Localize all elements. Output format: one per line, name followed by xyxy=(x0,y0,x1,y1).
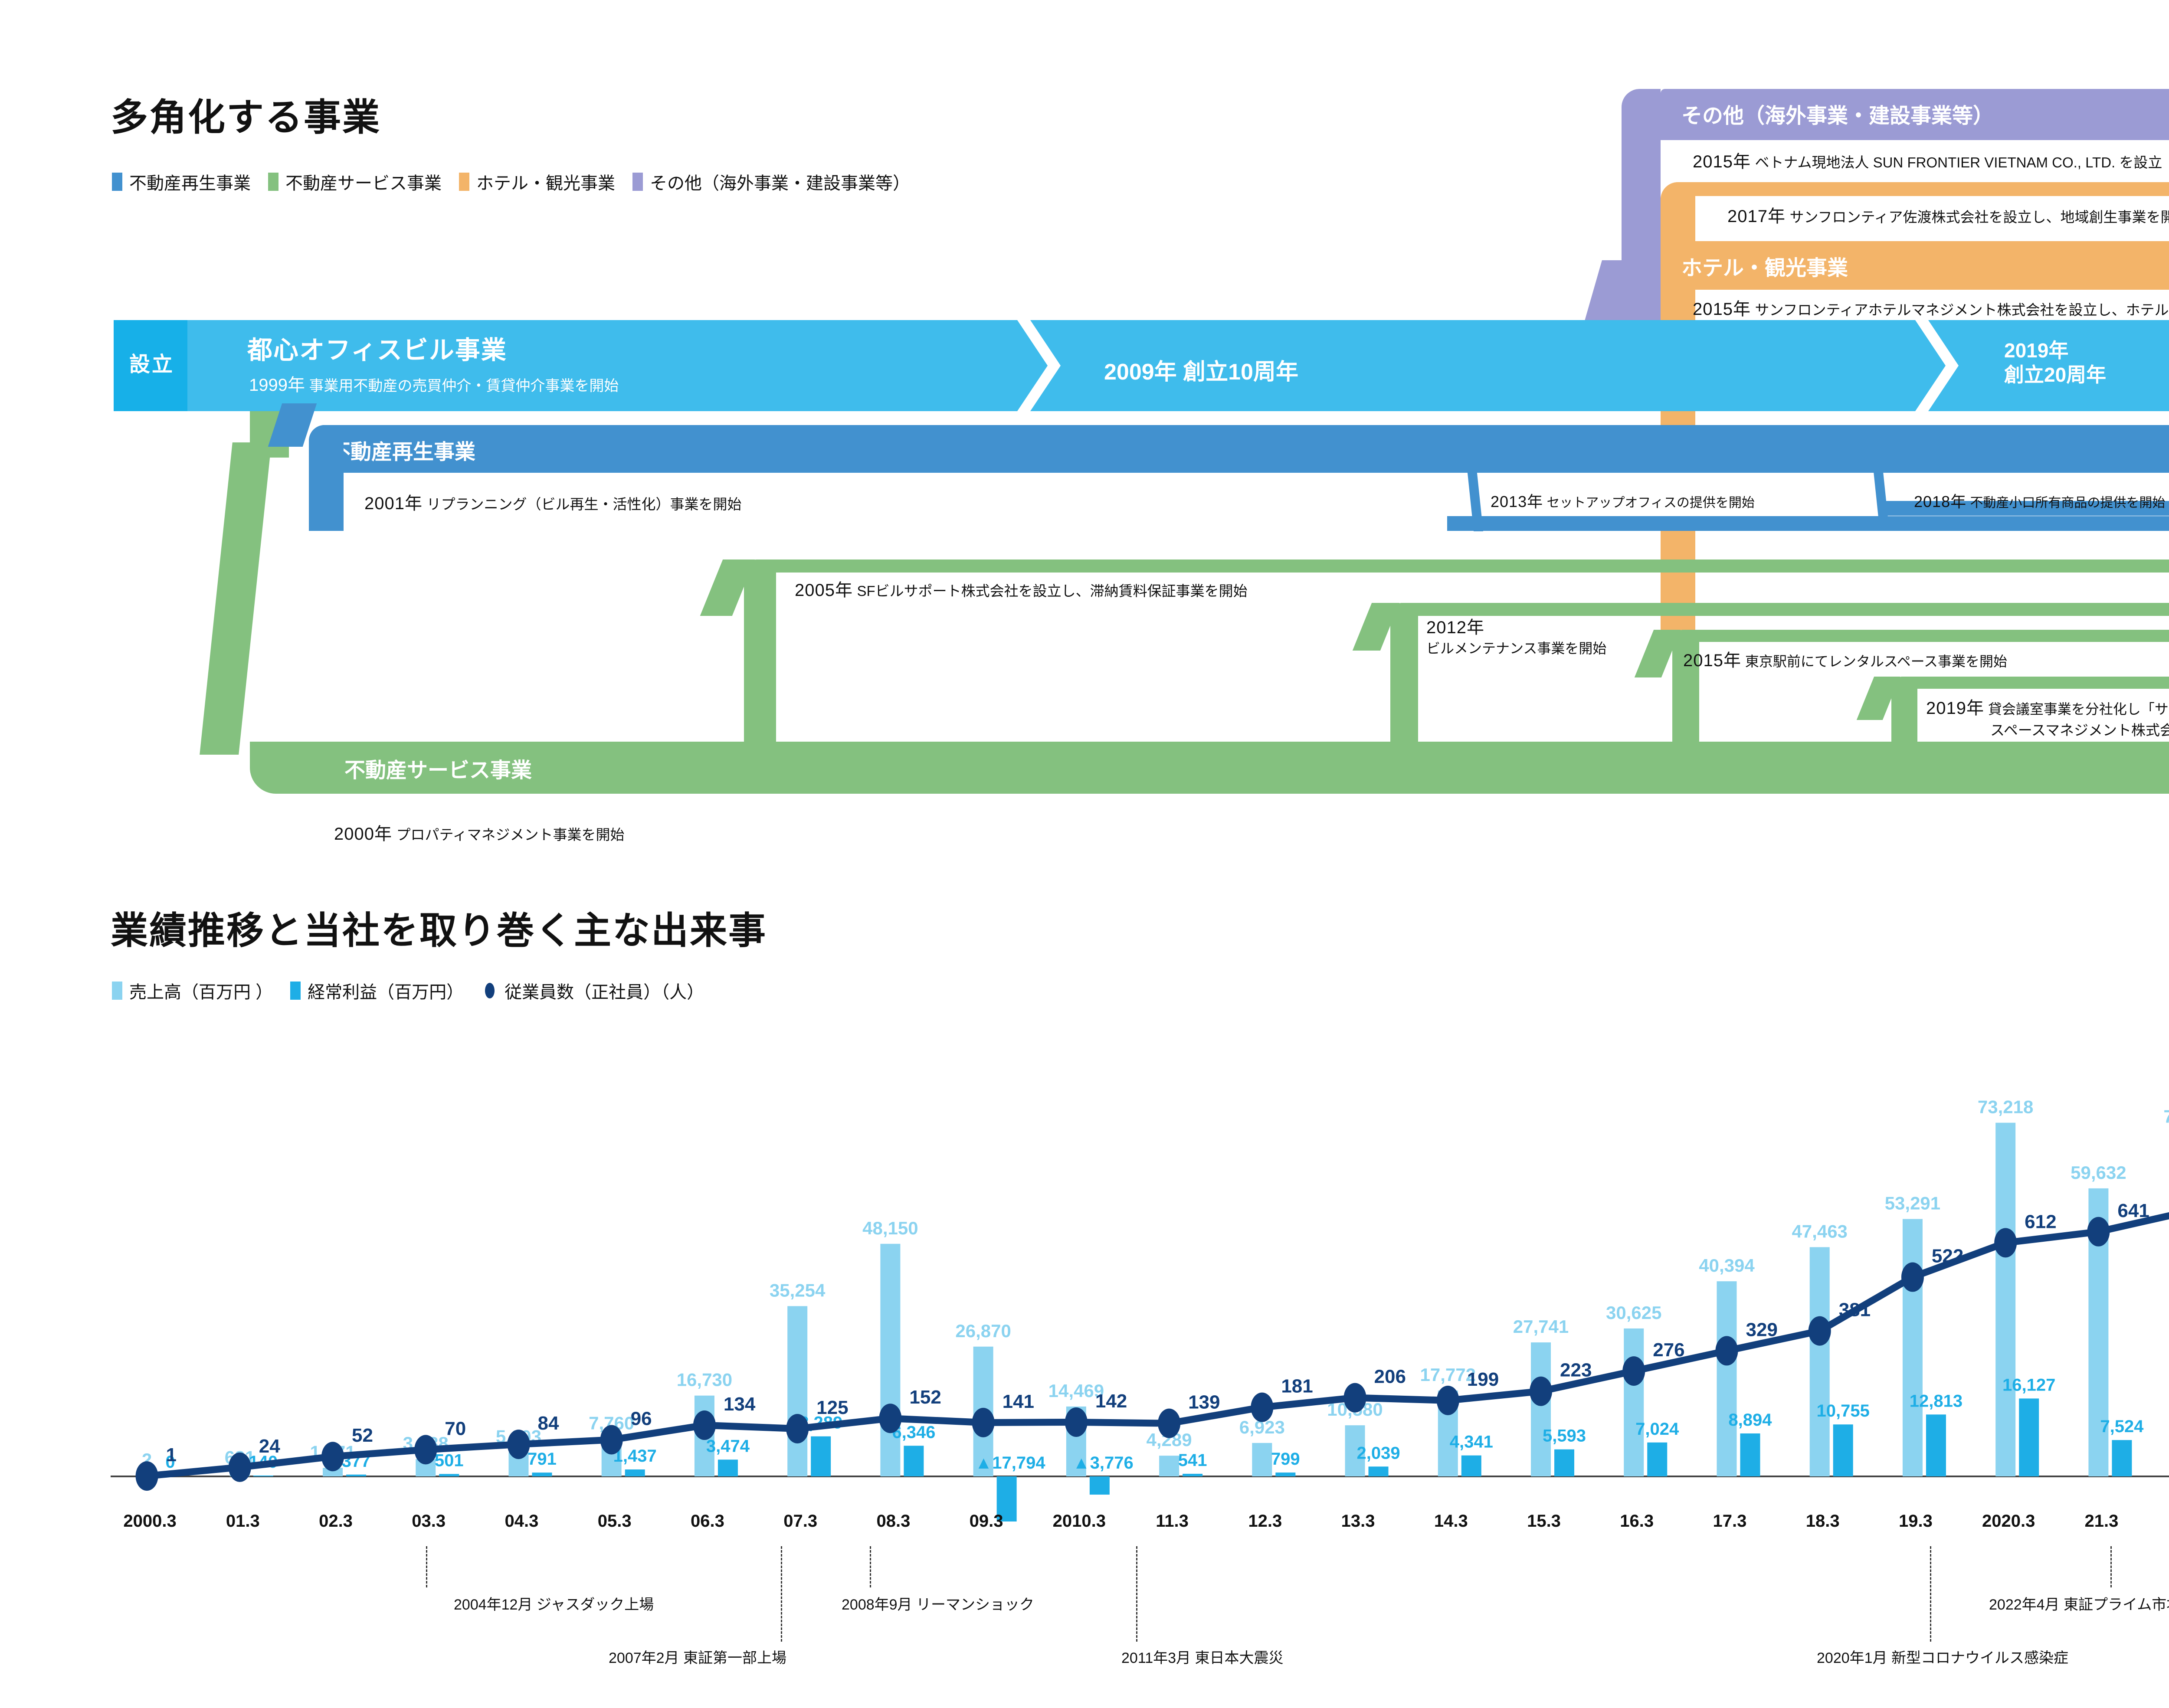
x-axis-tick: 16.3 xyxy=(1620,1512,1654,1531)
employee-point-label: 70 xyxy=(445,1418,466,1439)
service-band-stem-diagonal xyxy=(200,442,272,755)
annotation-leader-line xyxy=(2110,1546,2112,1587)
service-event-2019-text1: 貸会議室事業を分社化し「サンフロンティア xyxy=(1988,701,2169,717)
employee-point-label: 152 xyxy=(909,1387,941,1408)
service-branch-bar-2 xyxy=(1390,603,2169,616)
x-axis-tick: 2000.3 xyxy=(123,1512,176,1531)
employee-point-label: 522 xyxy=(1932,1246,1963,1267)
employee-line-point xyxy=(136,1461,158,1491)
profit-bar-label: 541 xyxy=(1178,1451,1207,1470)
profit-bar-label: 5,593 xyxy=(1543,1427,1586,1446)
service-event-2019-year: 2019年 xyxy=(1926,699,1984,718)
x-axis-tick: 03.3 xyxy=(412,1512,446,1531)
employee-point-label: 142 xyxy=(1095,1391,1127,1412)
profit-bar-label: 16,127 xyxy=(2002,1375,2055,1394)
employee-point-label: 381 xyxy=(1839,1299,1871,1321)
employee-line-point xyxy=(600,1425,623,1455)
regen-band-stem xyxy=(309,425,344,529)
other-event-2017-text: サンフロンティア佐渡株式会社を設立し、地域創生事業を開始 xyxy=(1789,209,2169,225)
profit-bar xyxy=(1275,1472,1295,1476)
employee-point-label: 125 xyxy=(816,1397,848,1418)
service-event-2000: 2000年 プロパティマネジメント事業を開始 xyxy=(334,820,624,845)
hotel-event-2015: 2015年 サンフロンティアホテルマネジメント株式会社を設立し、ホテル運営事業を… xyxy=(1693,295,2169,320)
profit-bar xyxy=(1740,1433,1760,1476)
annotation-label: 2004年12月 ジャスダック上場 xyxy=(454,1593,654,1614)
profit-bar-label: 3,474 xyxy=(706,1436,750,1456)
annotation-leader-line xyxy=(870,1546,871,1587)
regen-event-2018-year: 2018年 xyxy=(1914,493,1966,510)
other-band-heading: その他（海外事業・建設事業等） xyxy=(1681,98,1994,129)
profit-bar-label: 10,755 xyxy=(1817,1401,1870,1420)
revenue-bar xyxy=(1252,1443,1272,1476)
revenue-bar xyxy=(1717,1281,1737,1476)
chart-x-axis: 2000.301.302.303.304.305.306.307.308.309… xyxy=(111,1512,2169,1542)
profit-bar xyxy=(439,1474,459,1476)
x-axis-tick: 06.3 xyxy=(691,1512,724,1531)
employee-line-point xyxy=(972,1408,995,1437)
profit-bar xyxy=(904,1446,924,1476)
x-axis-tick: 2020.3 xyxy=(1982,1512,2035,1531)
hotel-event-2015-text: サンフロンティアホテルマネジメント株式会社を設立し、ホテル運営事業を開始 xyxy=(1755,302,2169,318)
revenue-bar-label: 47,463 xyxy=(1792,1221,1847,1241)
legend-label-other: その他（海外事業・建設事業等） xyxy=(650,169,910,194)
profit-bar xyxy=(718,1459,738,1476)
main-business-text: 事業用不動産の売買仲介・賃貸仲介事業を開始 xyxy=(309,378,619,394)
employee-point-label: 206 xyxy=(1374,1366,1406,1387)
employee-line-point xyxy=(879,1404,901,1433)
main-timeline-establish-block: 設立 xyxy=(114,320,187,411)
revenue-bar-label: 73,218 xyxy=(1978,1097,2033,1117)
legend-swatch-orange xyxy=(459,173,469,191)
profit-bar-label: 799 xyxy=(1271,1450,1300,1469)
regen-band-header: 不動産再生事業 xyxy=(309,425,2169,473)
employee-point-label: 329 xyxy=(1746,1319,1777,1340)
profit-bar-label: 8,894 xyxy=(1728,1410,1772,1430)
employee-line-point xyxy=(507,1430,530,1459)
employee-point-label: 1 xyxy=(166,1444,177,1466)
employee-point-label: 96 xyxy=(631,1408,652,1430)
x-axis-tick: 14.3 xyxy=(1434,1512,1468,1531)
profit-bar-label: 4,341 xyxy=(1450,1433,1493,1452)
revenue-bar xyxy=(1624,1328,1644,1476)
x-axis-tick: 15.3 xyxy=(1527,1512,1561,1531)
revenue-bar-label: 59,632 xyxy=(2071,1162,2126,1183)
employee-line-point xyxy=(1530,1377,1552,1406)
revenue-bar xyxy=(1159,1456,1179,1476)
other-event-2017-year: 2017年 xyxy=(1727,207,1786,226)
legend-item-hotel: ホテル・観光事業 xyxy=(459,169,615,194)
employee-point-label: 199 xyxy=(1467,1369,1499,1390)
main-business-year: 1999年 xyxy=(249,376,305,395)
employee-line-point xyxy=(1715,1336,1738,1365)
hotel-event-2015-year: 2015年 xyxy=(1693,300,1751,319)
x-axis-tick: 01.3 xyxy=(226,1512,260,1531)
x-axis-tick: 05.3 xyxy=(598,1512,632,1531)
service-event-2015-year: 2015年 xyxy=(1683,651,1741,670)
employee-line-point xyxy=(414,1435,437,1464)
revenue-bar xyxy=(1810,1247,1830,1476)
milestone-2019-text: 創立20周年 xyxy=(2004,363,2106,387)
revenue-bar-label: 27,741 xyxy=(1513,1316,1569,1337)
service-event-2012: 2012年 ビルメンテナンス事業を開始 xyxy=(1426,616,1606,658)
service-event-2015-text: 東京駅前にてレンタルスペース事業を開始 xyxy=(1745,654,2007,669)
legend-item-regeneration: 不動産再生事業 xyxy=(112,169,251,194)
profit-bar xyxy=(253,1476,273,1476)
hotel-band-heading: ホテル・観光事業 xyxy=(1681,251,1848,281)
employee-line-point xyxy=(2087,1217,2110,1247)
employee-line-point xyxy=(1344,1383,1366,1413)
other-event-2017: 2017年 サンフロンティア佐渡株式会社を設立し、地域創生事業を開始 xyxy=(1727,202,2169,227)
service-branch-stem-2 xyxy=(1390,603,1418,763)
x-axis-tick: 08.3 xyxy=(876,1512,910,1531)
x-axis-tick: 07.3 xyxy=(783,1512,817,1531)
profit-bar xyxy=(1554,1450,1574,1476)
service-event-2015: 2015年 東京駅前にてレンタルスペース事業を開始 xyxy=(1683,646,2007,671)
revenue-bar-label: 40,394 xyxy=(1699,1255,1755,1276)
profit-bar xyxy=(2112,1440,2132,1476)
profit-bar-label: 7,524 xyxy=(2100,1417,2144,1436)
regen-event-2013: 2013年 セットアップオフィスの提供を開始 xyxy=(1491,489,1755,512)
profit-bar-label: ▲17,794 xyxy=(975,1453,1046,1472)
service-event-2019-text2: スペースマネジメント株式会社」を設立 xyxy=(1926,720,2169,740)
revenue-bar xyxy=(1995,1123,2015,1476)
service-event-2000-text: プロパティマネジメント事業を開始 xyxy=(396,827,624,843)
x-axis-tick: 13.3 xyxy=(1341,1512,1375,1531)
main-business-title: 都心オフィスビル事業 xyxy=(247,330,507,366)
service-event-2005-text: SFビルサポート株式会社を設立し、滞納賃料保証事業を開始 xyxy=(857,583,1247,599)
regen-band-bottom-gap xyxy=(344,516,1447,531)
x-axis-tick: 18.3 xyxy=(1806,1512,1840,1531)
profit-bar xyxy=(1461,1456,1481,1476)
legend-label-regeneration: 不動産再生事業 xyxy=(129,169,251,194)
regen-event-2001: 2001年 リプランニング（ビル再生・活性化）事業を開始 xyxy=(364,489,741,514)
legend-business-categories: 不動産再生事業 不動産サービス事業 ホテル・観光事業 その他（海外事業・建設事業… xyxy=(112,169,927,194)
timeline-chevron-1 xyxy=(1017,320,1069,411)
milestone-2019-year: 2019年 xyxy=(2004,338,2106,363)
employee-line-point xyxy=(786,1414,809,1443)
profit-bar-label: 12,813 xyxy=(1910,1391,1963,1410)
regen-event-2001-text: リプランニング（ビル再生・活性化）事業を開始 xyxy=(426,496,741,512)
x-axis-tick: 04.3 xyxy=(505,1512,539,1531)
x-axis-tick: 09.3 xyxy=(970,1512,1003,1531)
infographic-page: 多角化する事業 不動産再生事業 不動産サービス事業 ホテル・観光事業 その他（海… xyxy=(0,0,2169,1708)
page-title-diversified: 多角化する事業 xyxy=(111,87,381,141)
service-event-2005-year: 2005年 xyxy=(795,581,853,600)
legend-item-other: その他（海外事業・建設事業等） xyxy=(632,169,910,194)
other-event-2015: 2015年 ベトナム現地法人 SUN FRONTIER VIETNAM CO.,… xyxy=(1693,147,2162,173)
legend-item-services: 不動産サービス事業 xyxy=(268,169,442,194)
employee-point-label: 134 xyxy=(724,1394,756,1415)
revenue-bar-label: 71,251 xyxy=(2163,1106,2169,1127)
other-event-2015-text: ベトナム現地法人 SUN FRONTIER VIETNAM CO., LTD. … xyxy=(1755,154,2162,170)
x-axis-tick: 17.3 xyxy=(1713,1512,1747,1531)
profit-bar xyxy=(346,1475,366,1476)
main-business-subtitle: 1999年 事業用不動産の売買仲介・賃貸仲介事業を開始 xyxy=(249,371,619,396)
service-branch-bar-3 xyxy=(1672,630,2169,642)
profit-bar xyxy=(2019,1398,2039,1476)
legend-label-hotel: ホテル・観光事業 xyxy=(476,169,615,194)
employee-point-label: 223 xyxy=(1560,1360,1592,1381)
milestone-2019: 2019年 創立20周年 xyxy=(2004,338,2106,387)
regen-band-heading: 不動産再生事業 xyxy=(330,435,475,465)
employee-line-point xyxy=(321,1442,344,1471)
milestone-2009: 2009年 創立10周年 xyxy=(1104,353,1298,386)
annotation-label: 2011年3月 東日本大震災 xyxy=(1121,1646,1283,1667)
service-branch-stem-1 xyxy=(744,560,776,763)
employee-line-point xyxy=(1994,1228,2017,1257)
chart-canvas: 206811401,7713773,5885015,0037917,7601,4… xyxy=(111,902,2169,1522)
regen-event-2018-text: 不動産小口所有商品の提供を開始 xyxy=(1970,496,2165,510)
service-branch-bar-1 xyxy=(744,560,2169,573)
profit-bar-label: ▲3,776 xyxy=(1073,1453,1134,1472)
regen-event-2018: 2018年 不動産小口所有商品の提供を開始 xyxy=(1914,489,2165,512)
employee-line-point xyxy=(1065,1407,1088,1437)
annotation-leader-line xyxy=(781,1546,782,1642)
employee-point-label: 84 xyxy=(537,1413,559,1434)
service-event-2019-line1: 2019年 貸会議室事業を分社化し「サンフロンティア xyxy=(1926,696,2169,720)
employee-line-point xyxy=(1437,1386,1459,1415)
employee-line-point xyxy=(1809,1316,1831,1346)
employee-point-label: 52 xyxy=(352,1425,373,1446)
revenue-bar xyxy=(1903,1219,1923,1476)
annotation-label: 2007年2月 東証第一部上場 xyxy=(609,1646,786,1667)
employee-line-point xyxy=(229,1453,251,1482)
employee-point-label: 24 xyxy=(259,1436,280,1457)
revenue-bar-label: 48,150 xyxy=(862,1218,918,1238)
annotation-label: 2022年4月 東証プライム市場選択 xyxy=(1989,1593,2169,1614)
service-band-heading: 不動産サービス事業 xyxy=(344,753,532,783)
revenue-bar-label: 30,625 xyxy=(1606,1302,1661,1323)
employee-point-label: 139 xyxy=(1188,1392,1220,1413)
employee-point-label: 141 xyxy=(1003,1391,1034,1412)
annotation-label: 2008年9月 リーマンショック xyxy=(842,1593,1034,1614)
legend-swatch-blue xyxy=(112,173,122,191)
employee-line-point xyxy=(1622,1356,1645,1386)
establish-label: 設立 xyxy=(129,347,174,377)
annotation-label: 2020年1月 新型コロナウイルス感染症 xyxy=(1817,1646,2068,1667)
annotation-leader-line xyxy=(426,1546,427,1587)
performance-chart: 206811401,7713773,5885015,0037917,7601,4… xyxy=(111,902,2169,1522)
profit-bar-label: 7,024 xyxy=(1635,1420,1679,1439)
profit-bar xyxy=(625,1469,645,1476)
other-band-header: その他（海外事業・建設事業等） xyxy=(1661,89,2169,140)
annotation-leader-line xyxy=(1930,1546,1931,1642)
service-band-footer: 不動産サービス事業 xyxy=(250,742,2169,794)
service-event-2000-year: 2000年 xyxy=(334,825,392,844)
other-band-stem xyxy=(1622,89,1661,349)
legend-swatch-green xyxy=(268,173,278,191)
employee-point-label: 181 xyxy=(1281,1376,1313,1397)
other-event-2015-year: 2015年 xyxy=(1693,152,1751,171)
employee-line-point xyxy=(1901,1263,1924,1292)
profit-bar xyxy=(811,1436,831,1476)
x-axis-tick: 11.3 xyxy=(1156,1512,1189,1531)
employee-point-label: 641 xyxy=(2117,1200,2149,1221)
revenue-bar xyxy=(787,1306,807,1476)
legend-label-services: 不動産サービス事業 xyxy=(285,169,442,194)
x-axis-tick: 21.3 xyxy=(2084,1512,2118,1531)
legend-swatch-purple xyxy=(632,173,643,191)
revenue-bar-label: 53,291 xyxy=(1885,1193,1940,1214)
revenue-bar xyxy=(1531,1342,1551,1476)
timeline-chevron-2 xyxy=(1915,320,1967,411)
employee-point-label: 276 xyxy=(1653,1339,1684,1361)
x-axis-tick: 19.3 xyxy=(1899,1512,1933,1531)
employee-point-label: 612 xyxy=(2025,1211,2056,1232)
x-axis-tick: 02.3 xyxy=(319,1512,353,1531)
hotel-band-header: ホテル・観光事業 xyxy=(1661,241,2169,290)
annotation-leader-line xyxy=(1136,1546,1137,1642)
regen-event-2001-year: 2001年 xyxy=(364,494,423,513)
service-branch-bar-4 xyxy=(1891,677,2169,689)
profit-bar xyxy=(1833,1424,1853,1476)
service-event-2019: 2019年 貸会議室事業を分社化し「サンフロンティア スペースマネジメント株式会… xyxy=(1926,696,2169,740)
employee-line-point xyxy=(1251,1393,1273,1422)
service-event-2012-year: 2012年 xyxy=(1426,616,1606,639)
employee-line-point xyxy=(1158,1409,1180,1438)
profit-bar xyxy=(1647,1443,1667,1476)
x-axis-tick: 12.3 xyxy=(1248,1512,1282,1531)
revenue-bar-label: 26,870 xyxy=(955,1321,1011,1341)
service-event-2012-text: ビルメンテナンス事業を開始 xyxy=(1426,639,1606,658)
profit-bar xyxy=(1926,1414,1946,1476)
profit-bar-label: 2,039 xyxy=(1356,1443,1400,1463)
profit-bar-negative xyxy=(1090,1476,1110,1495)
regen-event-2013-text: セットアップオフィスの提供を開始 xyxy=(1546,496,1754,510)
profit-bar-label: 791 xyxy=(528,1450,557,1469)
profit-bar-label: 501 xyxy=(435,1451,464,1470)
service-event-2005: 2005年 SFビルサポート株式会社を設立し、滞納賃料保証事業を開始 xyxy=(795,576,1248,601)
profit-bar xyxy=(1369,1466,1389,1476)
employee-line-point xyxy=(693,1410,716,1440)
revenue-bar-label: 35,254 xyxy=(770,1280,826,1300)
profit-bar xyxy=(1183,1474,1202,1476)
profit-bar xyxy=(532,1472,552,1476)
revenue-bar-label: 16,730 xyxy=(677,1370,732,1390)
regen-event-2013-year: 2013年 xyxy=(1491,493,1543,510)
x-axis-tick: 2010.3 xyxy=(1053,1512,1106,1531)
